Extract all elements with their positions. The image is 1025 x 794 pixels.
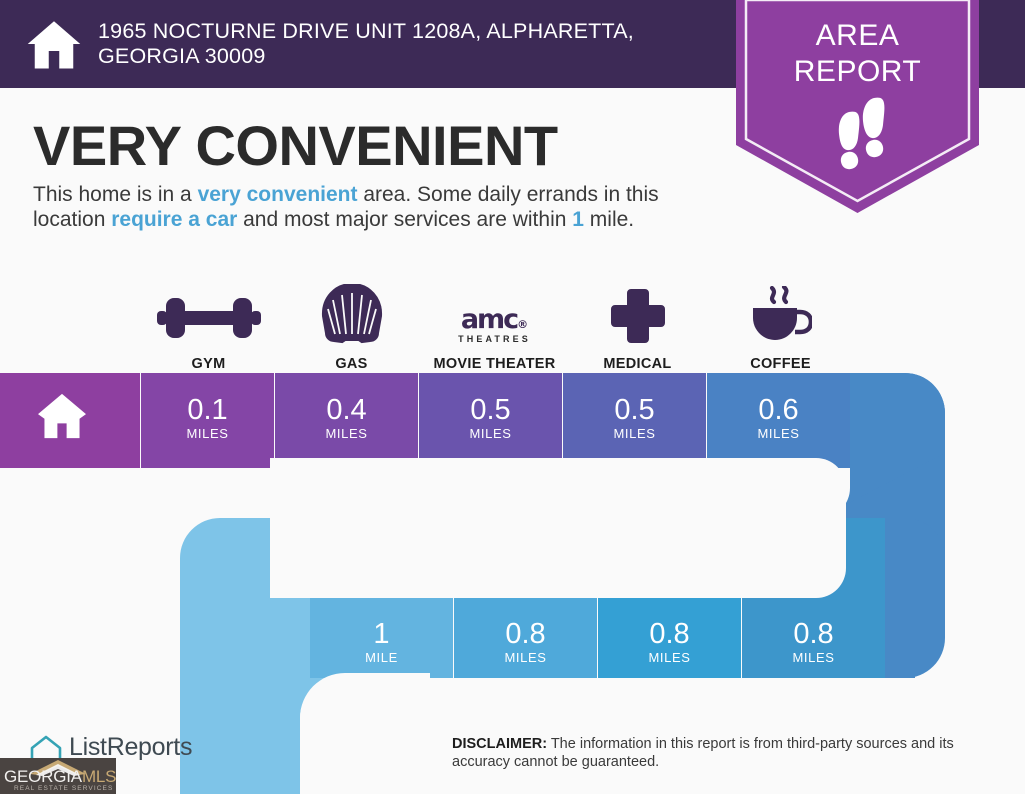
badge-line-1: AREA [736, 18, 979, 54]
amenity-icon-row-1: GYM GAS [137, 272, 852, 372]
summary-part-1: This home is in a [33, 183, 198, 206]
area-report-badge: AREA REPORT [736, 0, 979, 213]
amenity-label: MOVIE THEATER [433, 356, 555, 372]
disclaimer: DISCLAIMER: The information in this repo… [452, 735, 982, 771]
amenity-label: MEDICAL [603, 356, 671, 372]
icon-row-2-backdrop [270, 458, 846, 598]
medical-cross-icon [610, 282, 666, 344]
segment-movie-theater [419, 373, 562, 468]
amenity-label: GYM [192, 356, 226, 372]
amenity-coffee: COFFEE [709, 272, 852, 372]
amenity-gas: GAS [280, 272, 423, 372]
distance-ribbon: 0.1 MILES 0.4 MILES 0.5 MILES 0.5 MILES … [0, 373, 1025, 794]
summary-highlight-1: very convenient [198, 183, 358, 206]
home-marker-icon [36, 392, 88, 440]
amenity-label: GAS [335, 356, 367, 372]
coffee-cup-icon [750, 282, 812, 344]
amenity-medical: MEDICAL [566, 272, 709, 372]
gamls-tagline: REAL ESTATE SERVICES [14, 785, 113, 792]
amc-theatres-logo-icon: amc® THEATRES [458, 282, 531, 344]
disclaimer-label: DISCLAIMER: [452, 736, 547, 752]
amenity-movie-theater: amc® THEATRES MOVIE THEATER [423, 272, 566, 372]
page-title: VERY CONVENIENT [33, 113, 558, 178]
badge-label: AREA REPORT [736, 18, 979, 90]
segment-medical [563, 373, 706, 468]
area-report-page: 1965 NOCTURNE DRIVE UNIT 1208A, ALPHARET… [0, 0, 1025, 794]
summary-text: This home is in a very convenient area. … [33, 182, 733, 232]
summary-highlight-3: 1 [572, 208, 584, 231]
shell-logo-icon [321, 282, 383, 344]
badge-line-2: REPORT [736, 54, 979, 90]
summary-part-4: mile. [584, 208, 634, 231]
segment-gym [141, 373, 274, 468]
amenity-gym: GYM [137, 272, 280, 372]
gamls-name: GEORGIAMLS [4, 767, 116, 787]
ribbon-row-1 [0, 373, 961, 468]
summary-highlight-2: require a car [111, 208, 237, 231]
dumbbell-icon [157, 282, 261, 344]
georgia-mls-logo: GEORGIAMLS REAL ESTATE SERVICES [0, 758, 116, 794]
segment-gas [275, 373, 418, 468]
property-address: 1965 NOCTURNE DRIVE UNIT 1208A, ALPHARET… [98, 19, 698, 69]
summary-part-3: and most major services are within [237, 208, 572, 231]
house-icon [26, 16, 82, 72]
segment-coffee [707, 373, 850, 468]
ribbon-shape [0, 373, 1025, 794]
amenity-label: COFFEE [750, 356, 811, 372]
